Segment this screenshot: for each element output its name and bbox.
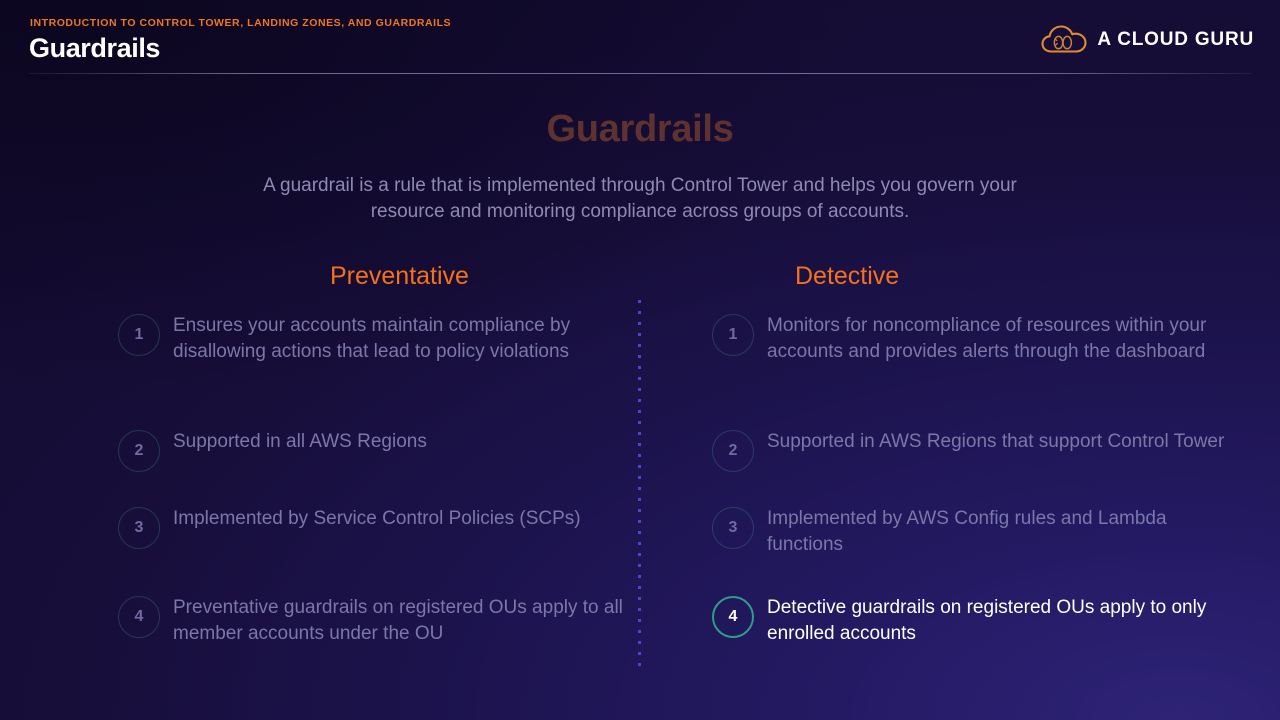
list-item: 4 Preventative guardrails on registered … <box>118 587 628 646</box>
list-item-text: Implemented by AWS Config rules and Lamb… <box>767 498 1232 557</box>
list-item: 1 Ensures your accounts maintain complia… <box>118 305 628 364</box>
list-item: 2 Supported in AWS Regions that support … <box>712 421 1224 472</box>
column-heading-preventative: Preventative <box>330 262 469 291</box>
column-heading-detective: Detective <box>795 262 899 291</box>
list-item-number: 3 <box>712 507 754 549</box>
list-item-number: 2 <box>712 430 754 472</box>
list-item-text: Ensures your accounts maintain complianc… <box>173 305 628 364</box>
list-item-text: Implemented by Service Control Policies … <box>173 498 581 532</box>
hero-subtitle: A guardrail is a rule that is implemente… <box>240 173 1040 225</box>
list-item: 3 Implemented by AWS Config rules and La… <box>712 498 1232 557</box>
list-item: 2 Supported in all AWS Regions <box>118 421 427 472</box>
list-item-text: Supported in all AWS Regions <box>173 421 427 455</box>
page-title: Guardrails <box>29 33 160 64</box>
list-item-text: Preventative guardrails on registered OU… <box>173 587 628 646</box>
brand-lockup: A CLOUD GURU <box>1041 24 1254 56</box>
list-item-highlighted: 4 Detective guardrails on registered OUs… <box>712 587 1232 646</box>
list-item-number: 1 <box>118 314 160 356</box>
list-item-number: 4 <box>118 596 160 638</box>
slide-header: INTRODUCTION TO CONTROL TOWER, LANDING Z… <box>0 0 1280 76</box>
list-item: 3 Implemented by Service Control Policie… <box>118 498 581 549</box>
column-divider-dotted <box>638 300 641 670</box>
list-item-number: 2 <box>118 430 160 472</box>
slide-root: INTRODUCTION TO CONTROL TOWER, LANDING Z… <box>0 0 1280 720</box>
list-item-number: 4 <box>712 596 754 638</box>
cloud-icon <box>1041 24 1087 56</box>
header-divider <box>29 73 1252 74</box>
list-item-number: 1 <box>712 314 754 356</box>
list-item-text: Detective guardrails on registered OUs a… <box>767 587 1232 646</box>
hero-title: Guardrails <box>0 108 1280 151</box>
list-item-text: Monitors for noncompliance of resources … <box>767 305 1232 364</box>
list-item-number: 3 <box>118 507 160 549</box>
breadcrumb-eyebrow: INTRODUCTION TO CONTROL TOWER, LANDING Z… <box>30 17 451 29</box>
list-item: 1 Monitors for noncompliance of resource… <box>712 305 1232 364</box>
list-item-text: Supported in AWS Regions that support Co… <box>767 421 1224 455</box>
brand-name: A CLOUD GURU <box>1097 29 1254 51</box>
